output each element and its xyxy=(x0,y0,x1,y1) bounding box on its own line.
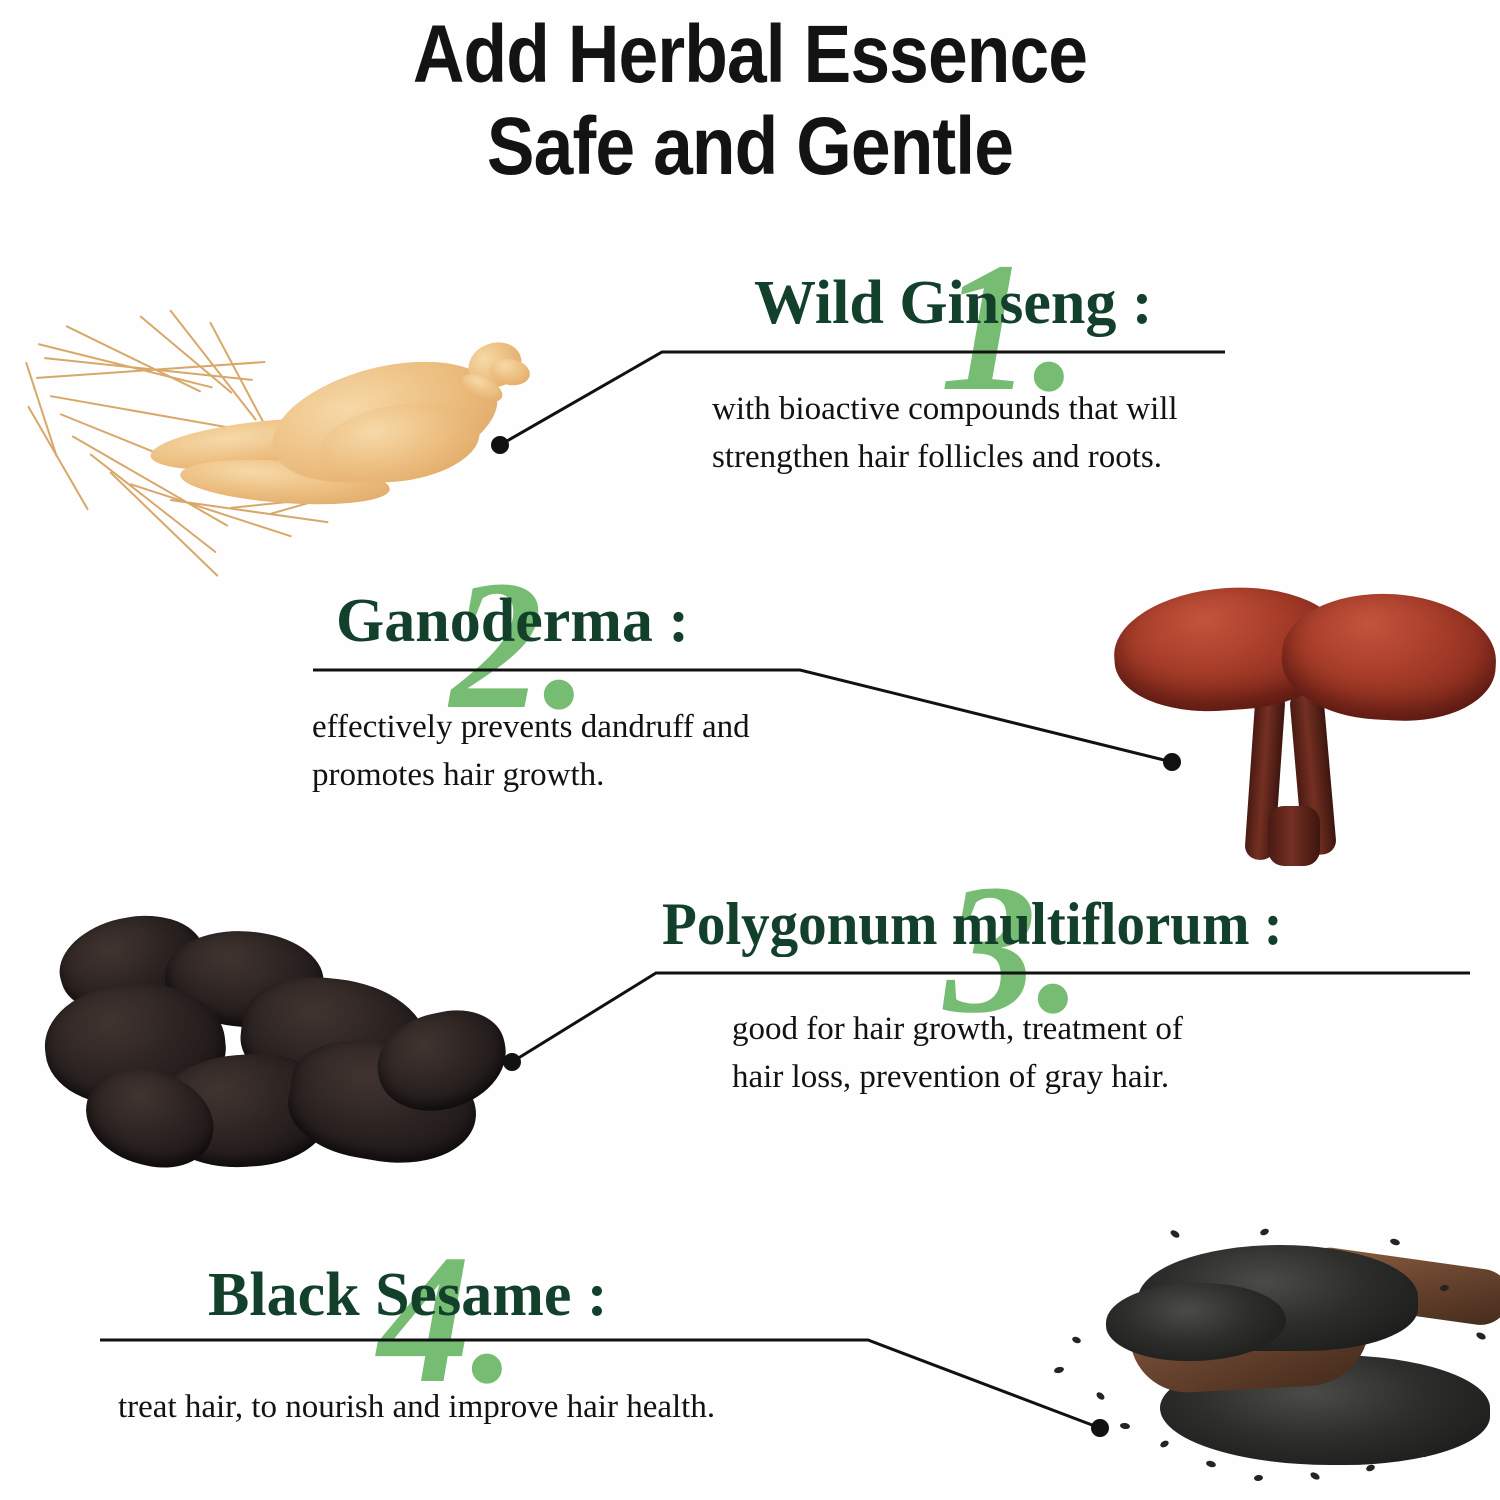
ingredient-description-1: with bioactive compounds that will stren… xyxy=(712,386,1178,482)
ingredient-heading-1: Wild Ginseng : xyxy=(754,272,1178,334)
black-sesame-seeds-with-wooden-scoop-photo xyxy=(1010,1225,1500,1500)
ingredient-description-3: good for hair growth, treatment of hair … xyxy=(732,1006,1315,1102)
ingredient-description-3-line-1: good for hair growth, treatment of xyxy=(732,1006,1315,1054)
ingredient-description-2: effectively prevents dandruff and promot… xyxy=(312,704,750,800)
ingredient-block-1: 1. Wild Ginseng : with bioactive compoun… xyxy=(640,230,1178,482)
ingredient-description-1-line-2: strengthen hair follicles and roots. xyxy=(712,434,1178,482)
title-line-1: Add Herbal Essence xyxy=(98,14,1403,96)
title-line-2: Safe and Gentle xyxy=(98,106,1403,188)
wild-ginseng-root-photo xyxy=(20,285,530,550)
ingredient-description-3-line-2: hair loss, prevention of gray hair. xyxy=(732,1054,1315,1102)
ingredient-block-3: 3. Polygonum multiflorum : good for hair… xyxy=(640,852,1315,1102)
ingredient-description-2-line-1: effectively prevents dandruff and xyxy=(312,704,750,752)
page-title: Add Herbal Essence Safe and Gentle xyxy=(0,14,1500,188)
ingredient-heading-3: Polygonum multiflorum : xyxy=(662,894,1283,954)
ingredient-block-2: 2. Ganoderma : effectively prevents dand… xyxy=(300,548,750,800)
ingredient-description-4: treat hair, to nourish and improve hair … xyxy=(118,1384,715,1432)
ingredient-heading-2: Ganoderma : xyxy=(336,590,750,652)
herbal-ingredients-infographic: Add Herbal Essence Safe and Gentle xyxy=(0,0,1500,1500)
ingredient-heading-4: Black Sesame : xyxy=(208,1264,715,1326)
ingredient-description-2-line-2: promotes hair growth. xyxy=(312,752,750,800)
ingredient-description-4-line-1: treat hair, to nourish and improve hair … xyxy=(118,1384,715,1432)
ingredient-block-4: 4. Black Sesame : treat hair, to nourish… xyxy=(180,1222,715,1432)
polygonum-multiflorum-dried-slices-photo xyxy=(25,895,525,1190)
ingredient-description-1-line-1: with bioactive compounds that will xyxy=(712,386,1178,434)
ganoderma-reishi-mushroom-photo xyxy=(1100,570,1500,870)
